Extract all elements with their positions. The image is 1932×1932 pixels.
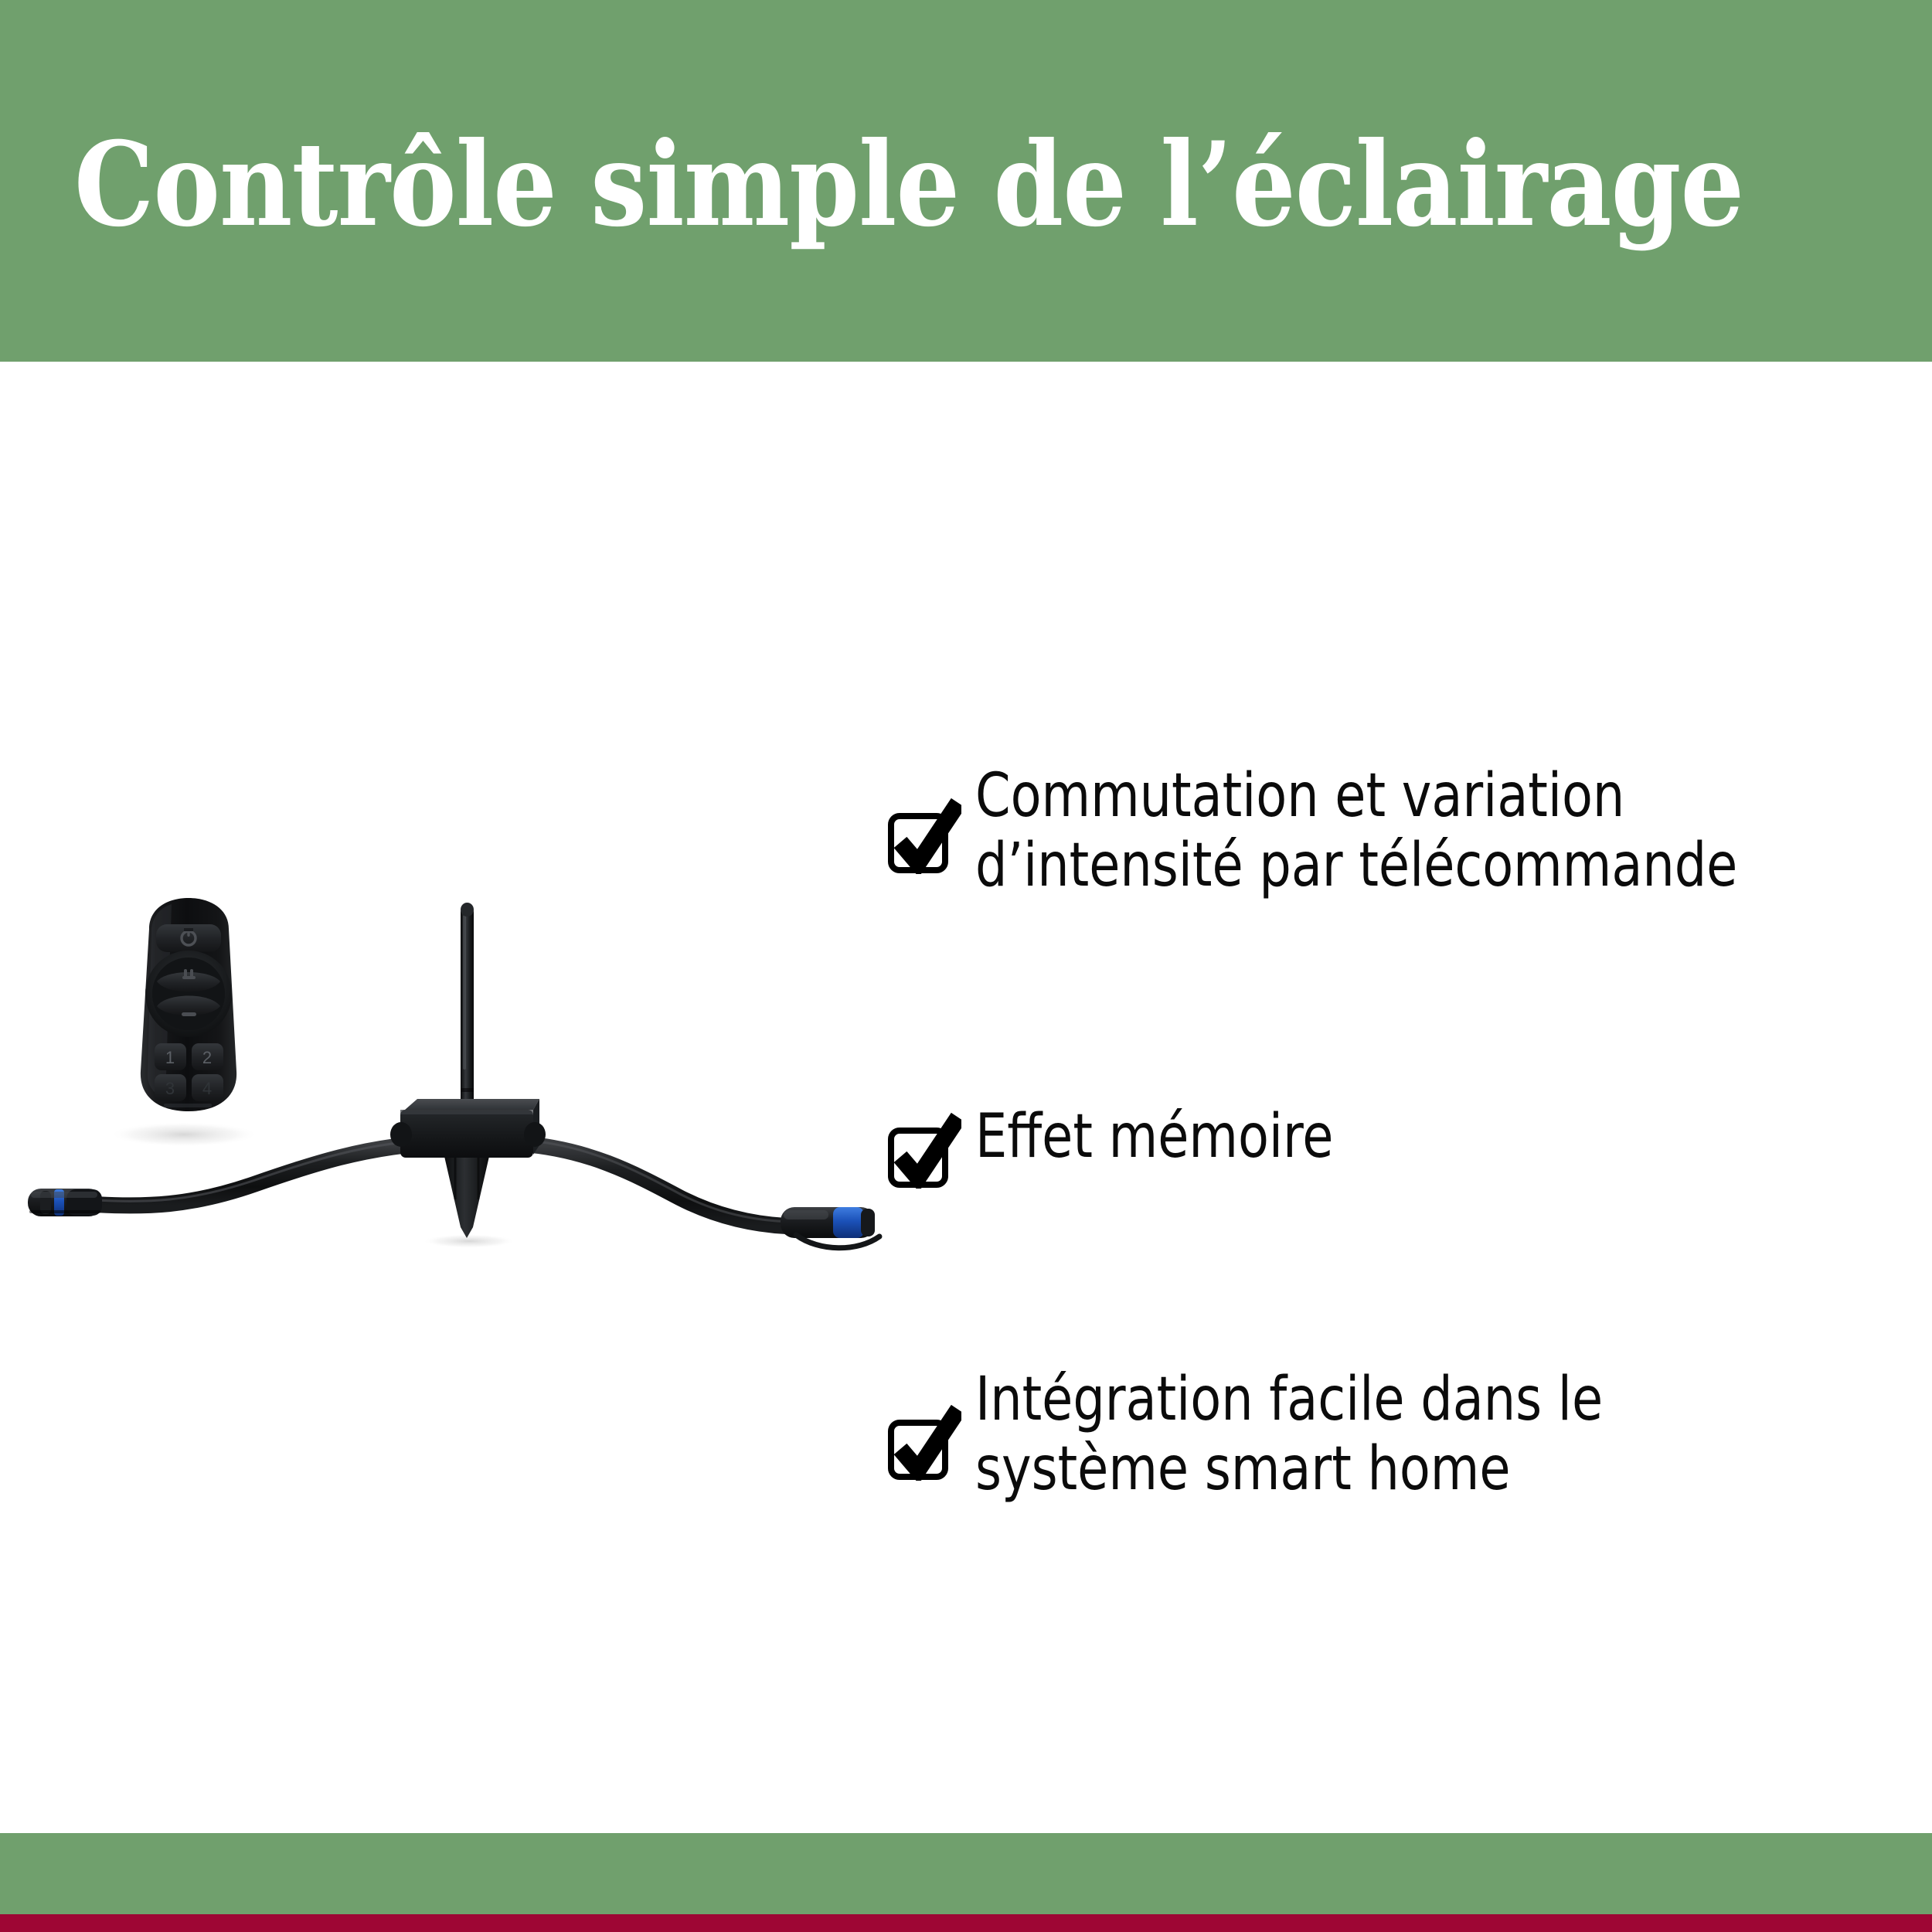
feature-label: Intégration facile dans le système smart…: [975, 1365, 1603, 1505]
product-illustration: 1 2 3 4: [0, 889, 927, 1291]
connector-blue-collar: [833, 1207, 864, 1238]
feature-item: Intégration facile dans le système smart…: [887, 1365, 1884, 1505]
feature-item: Commutation et variation d’intensité par…: [887, 761, 1884, 901]
feature-item: Effet mémoire: [887, 1102, 1884, 1189]
antenna: [461, 903, 474, 1113]
feature-label: Commutation et variation d’intensité par…: [975, 761, 1737, 901]
footer-banner: [0, 1833, 1932, 1914]
cable-right: [519, 1140, 808, 1226]
checkbox-checked-icon: [887, 794, 961, 874]
preset-2-label: 2: [202, 1048, 212, 1067]
socket-connector-right: [781, 1207, 879, 1248]
preset-1-label: 1: [165, 1048, 175, 1067]
brightness-down-icon: [182, 1012, 196, 1016]
remote-control: 1 2 3 4: [141, 898, 236, 1111]
footer-accent-bar: [0, 1914, 1932, 1932]
checkbox-checked-icon: [887, 1400, 961, 1481]
feature-label: Effet mémoire: [975, 1102, 1333, 1172]
page-title: Contrôle simple de l’éclairage: [74, 122, 1545, 247]
remote-dimmer-pad: [145, 951, 232, 1037]
remote-shadow: [110, 1122, 258, 1147]
plug-connector-left: [28, 1189, 102, 1216]
remote-brand-strip: [164, 1104, 212, 1107]
preset-4-label: 4: [202, 1079, 212, 1098]
remote-power-button: [156, 924, 221, 952]
controller-box: [390, 903, 546, 1238]
spike-shadow: [423, 1234, 515, 1248]
ground-spike: [444, 1153, 490, 1238]
checkbox-checked-icon: [887, 1108, 961, 1189]
preset-3-label: 3: [165, 1079, 175, 1098]
cable-left: [77, 1141, 421, 1206]
feature-list: Commutation et variation d’intensité par…: [887, 761, 1884, 1505]
